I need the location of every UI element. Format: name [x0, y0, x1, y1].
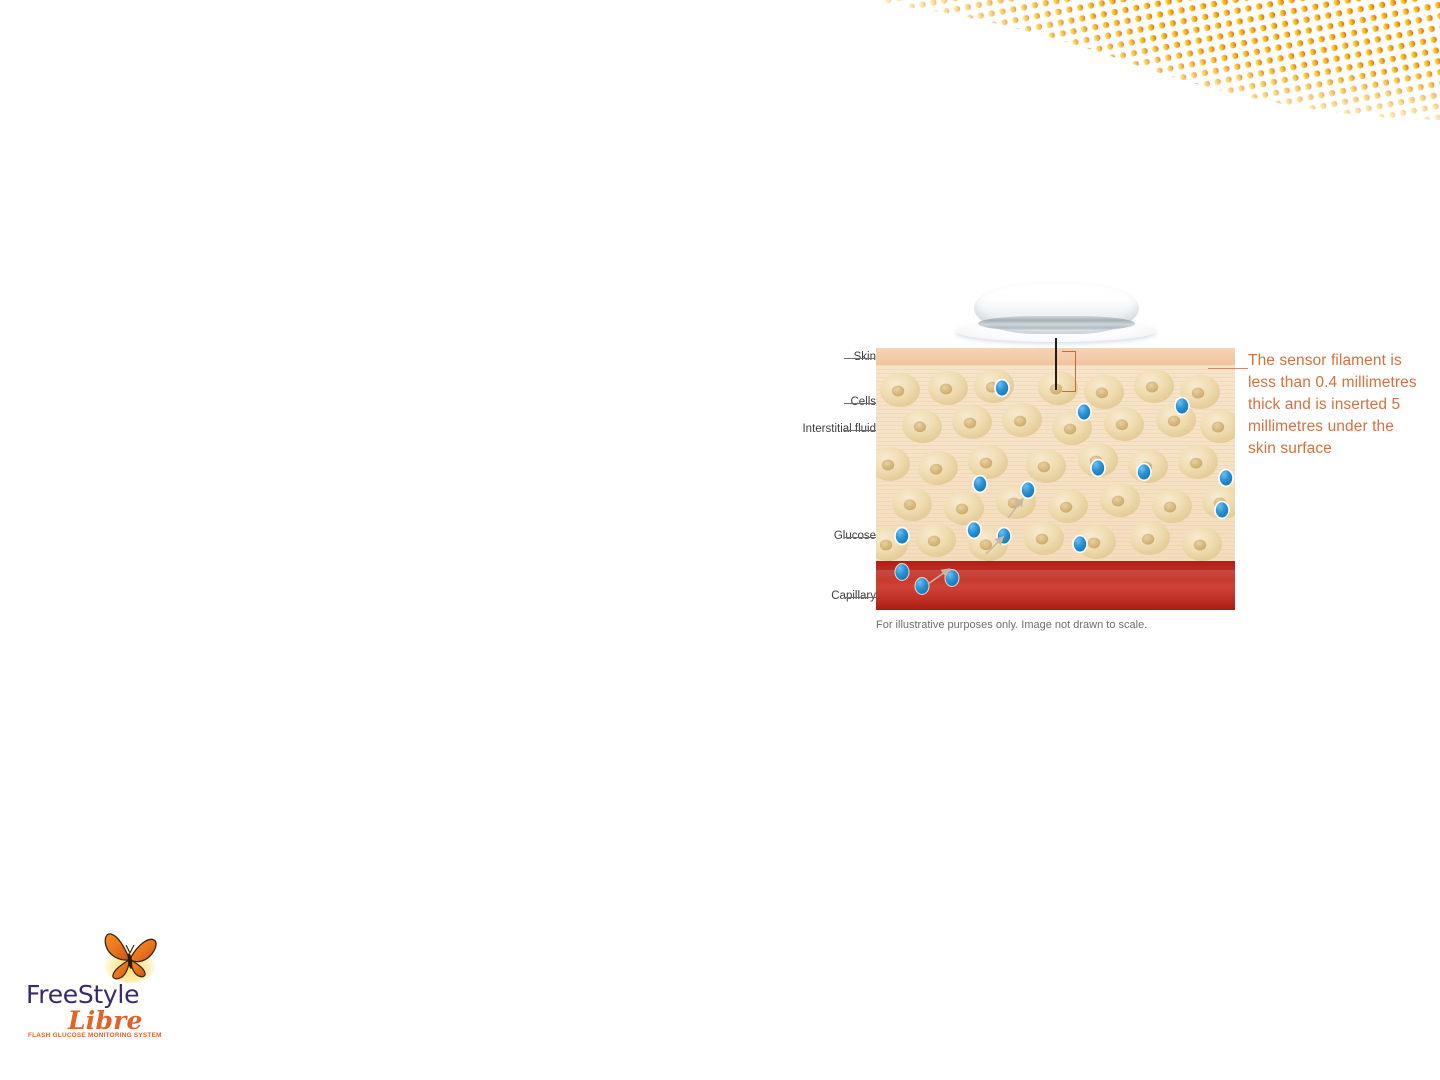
label-capillary: Capillary — [831, 590, 876, 602]
label-cells: Cells — [850, 396, 876, 408]
label-interstitial-fluid: Interstitial fluid — [802, 423, 876, 435]
logo-freestyle-text: FreeStyle — [26, 980, 139, 1009]
sensor-skin-diagram: Skin Cells Interstitial fluid Glucose Ca… — [770, 276, 1240, 641]
sensor-highlight — [992, 287, 1110, 303]
sensor-grey-band — [978, 316, 1135, 331]
depth-bracket — [1062, 351, 1076, 392]
butterfly-icon — [100, 928, 162, 986]
halftone-swoosh — [860, 0, 1440, 132]
figure-caption: For illustrative purposes only. Image no… — [876, 619, 1147, 631]
sensor-filament — [1055, 338, 1057, 390]
logo-libre-text: Libre — [68, 1006, 143, 1035]
glucose-molecules — [895, 380, 1233, 595]
annotation-leader-line — [1208, 368, 1248, 369]
leader-line-skin — [844, 358, 874, 359]
label-skin: Skin — [854, 351, 876, 363]
sensor-filament-annotation: The sensor filament is less than 0.4 mil… — [1248, 350, 1420, 460]
freestyle-libre-logo: FreeStyle Libre FLASH GLUCOSE MONITORING… — [26, 928, 176, 1046]
logo-tagline: FLASH GLUCOSE MONITORING SYSTEM — [28, 1032, 162, 1039]
label-glucose: Glucose — [834, 530, 876, 542]
